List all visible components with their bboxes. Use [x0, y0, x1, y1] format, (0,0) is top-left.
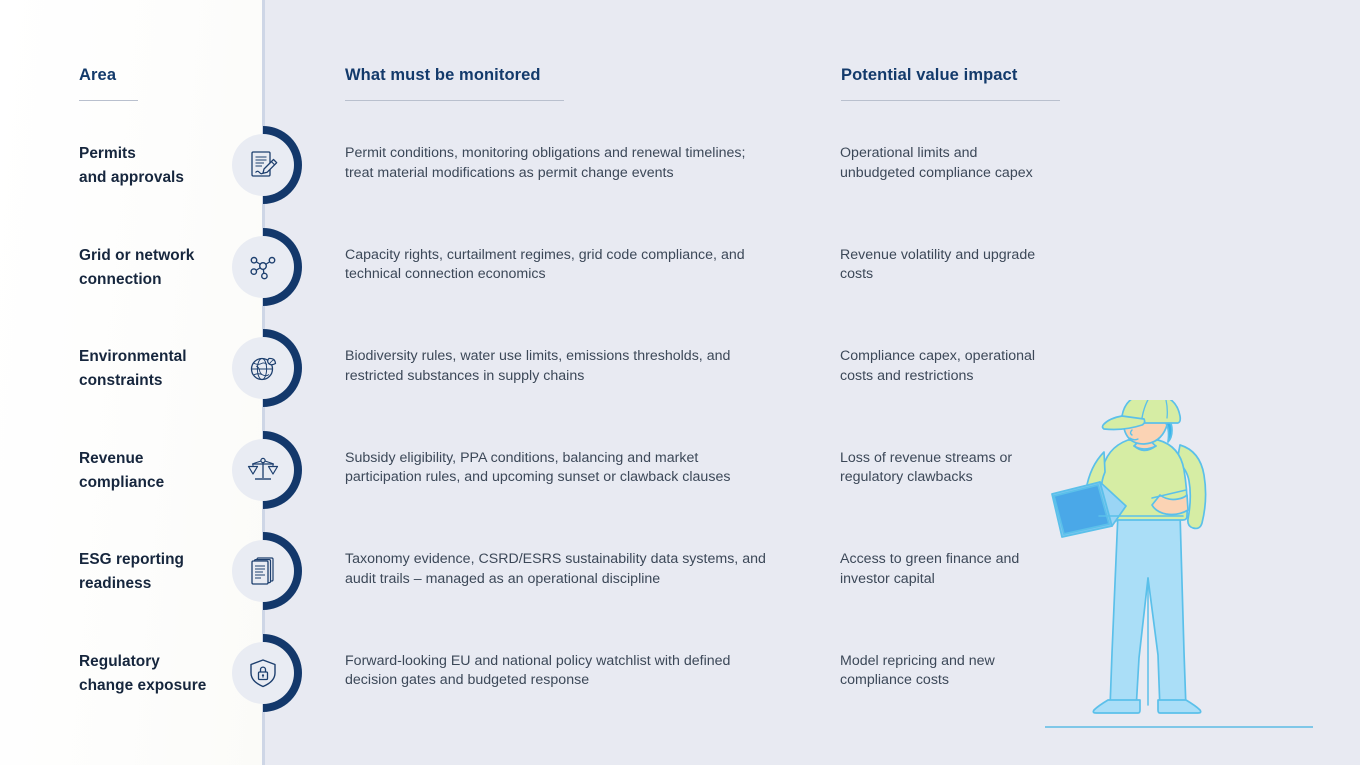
- column-header-monitored: What must be monitored: [345, 66, 541, 85]
- column-header-monitored-rule: [345, 100, 564, 101]
- row-impact-line1: Compliance capex, operational: [840, 348, 1035, 364]
- person-with-tablet-illustration: [1040, 400, 1320, 740]
- network-nodes-icon: [247, 251, 279, 283]
- document-pen-icon: [247, 149, 279, 181]
- row-area-label-line2: readiness: [79, 575, 151, 592]
- row-area-label-line2: connection: [79, 271, 162, 288]
- row-area-label-line2: compliance: [79, 474, 164, 491]
- row-monitored-line1: Subsidy eligibility, PPA conditions, bal…: [345, 450, 698, 466]
- row-monitored-line2: participation rules, and upcoming sunset…: [345, 469, 730, 485]
- row-area-label-line1: Grid or network: [79, 247, 194, 264]
- row-area-label: Permits and approvals: [79, 142, 254, 190]
- row-area-label-line1: Revenue: [79, 450, 144, 467]
- row-monitored-text: Capacity rights, curtailment regimes, gr…: [345, 246, 815, 285]
- row-monitored-line1: Taxonomy evidence, CSRD/ESRS sustainabil…: [345, 551, 766, 567]
- row-impact-line2: investor capital: [840, 571, 935, 587]
- row-impact-line2: compliance costs: [840, 672, 949, 688]
- row-impact-text: Operational limits and unbudgeted compli…: [840, 144, 1090, 183]
- column-header-area: Area: [79, 66, 116, 85]
- row-area-label-line2: and approvals: [79, 169, 184, 186]
- row-icon-medallion: [232, 634, 310, 712]
- row-monitored-text: Permit conditions, monitoring obligation…: [345, 144, 815, 183]
- row-icon-medallion: [232, 329, 310, 407]
- row-area-label-line1: Environmental: [79, 348, 187, 365]
- row-impact-line1: Operational limits and: [840, 145, 977, 161]
- row-monitored-text: Biodiversity rules, water use limits, em…: [345, 347, 815, 386]
- row-area-label: Grid or network connection: [79, 244, 254, 292]
- row-area-label: ESG reporting readiness: [79, 548, 254, 596]
- globe-leaf-icon: [247, 352, 279, 384]
- row-monitored-text: Forward-looking EU and national policy w…: [345, 652, 815, 691]
- row-monitored-line1: Forward-looking EU and national policy w…: [345, 653, 730, 669]
- table-row: Grid or network connection Capacity righ…: [0, 228, 1360, 330]
- row-monitored-line2: treat material modifications as permit c…: [345, 165, 674, 181]
- table-row: Permits and approvals Permit conditions,…: [0, 126, 1360, 228]
- row-area-label-line1: Regulatory: [79, 653, 160, 670]
- row-monitored-line1: Biodiversity rules, water use limits, em…: [345, 348, 730, 364]
- row-impact-line1: Revenue volatility and upgrade: [840, 247, 1035, 263]
- row-monitored-line2: audit trails – managed as an operational…: [345, 571, 660, 587]
- row-impact-line1: Model repricing and new: [840, 653, 995, 669]
- row-monitored-line2: technical connection economics: [345, 266, 546, 282]
- row-icon-medallion: [232, 228, 310, 306]
- row-area-label: Revenue compliance: [79, 447, 254, 495]
- column-header-impact-rule: [841, 100, 1060, 101]
- row-impact-text: Revenue volatility and upgrade costs: [840, 246, 1090, 285]
- infographic-canvas: Area What must be monitored Potential va…: [0, 0, 1360, 765]
- row-area-label: Environmental constraints: [79, 345, 254, 393]
- row-impact-line2: regulatory clawbacks: [840, 469, 973, 485]
- ground-line: [1045, 726, 1313, 728]
- row-monitored-text: Subsidy eligibility, PPA conditions, bal…: [345, 449, 815, 488]
- row-impact-line2: costs and restrictions: [840, 368, 973, 384]
- row-monitored-text: Taxonomy evidence, CSRD/ESRS sustainabil…: [345, 550, 815, 589]
- row-area-label-line2: change exposure: [79, 677, 206, 694]
- row-area-label: Regulatory change exposure: [79, 650, 254, 698]
- row-impact-text: Compliance capex, operational costs and …: [840, 347, 1090, 386]
- row-monitored-line1: Permit conditions, monitoring obligation…: [345, 145, 745, 161]
- row-area-label-line1: ESG reporting: [79, 551, 184, 568]
- row-monitored-line2: decision gates and budgeted response: [345, 672, 589, 688]
- row-impact-line2: unbudgeted compliance capex: [840, 165, 1033, 181]
- column-header-area-rule: [79, 100, 138, 101]
- row-monitored-line2: restricted substances in supply chains: [345, 368, 584, 384]
- row-area-label-line1: Permits: [79, 145, 136, 162]
- row-icon-medallion: [232, 431, 310, 509]
- column-header-impact: Potential value impact: [841, 66, 1017, 85]
- row-monitored-line1: Capacity rights, curtailment regimes, gr…: [345, 247, 745, 263]
- row-impact-line1: Loss of revenue streams or: [840, 450, 1012, 466]
- balance-scales-icon: [247, 454, 279, 486]
- stacked-reports-icon: [247, 555, 279, 587]
- row-impact-line2: costs: [840, 266, 873, 282]
- row-icon-medallion: [232, 532, 310, 610]
- row-icon-medallion: [232, 126, 310, 204]
- shield-lock-icon: [247, 657, 279, 689]
- row-area-label-line2: constraints: [79, 372, 163, 389]
- row-impact-line1: Access to green finance and: [840, 551, 1019, 567]
